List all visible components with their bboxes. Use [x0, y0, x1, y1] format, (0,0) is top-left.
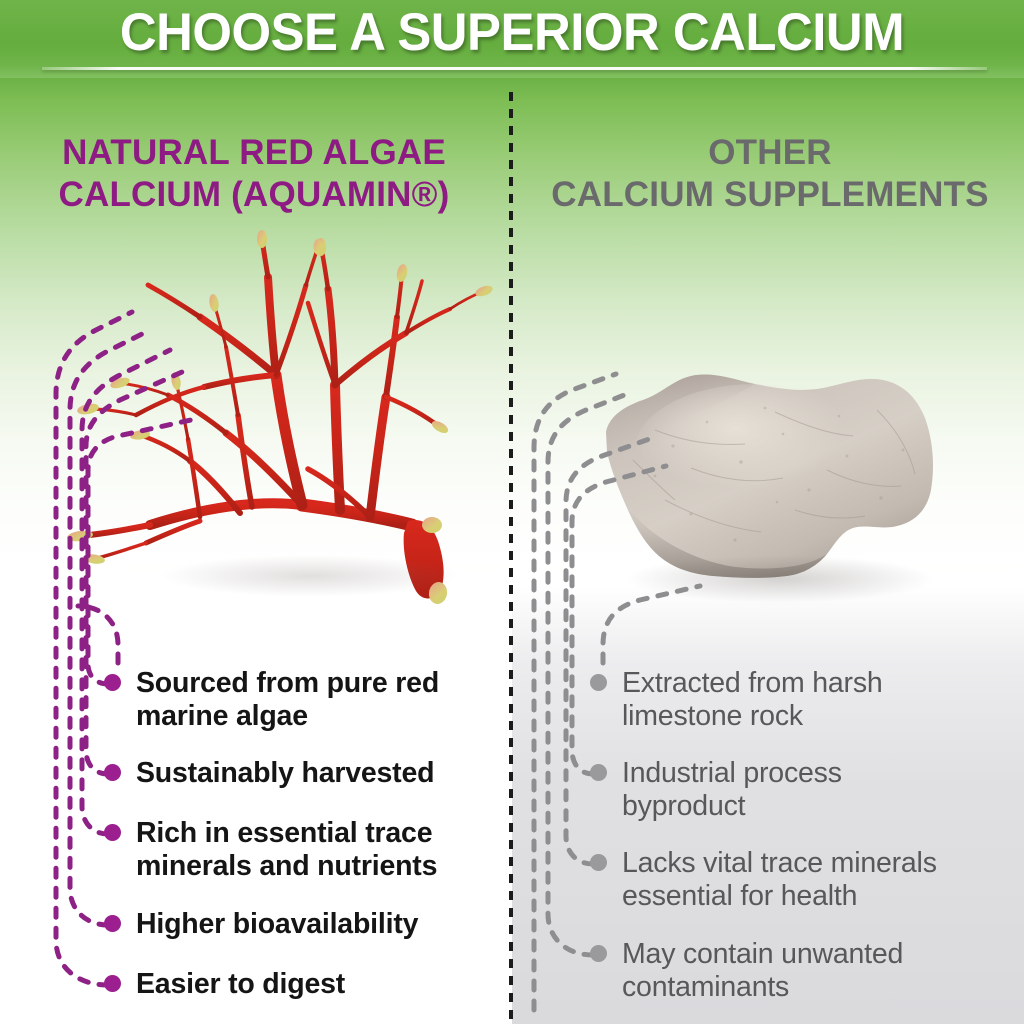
- list-item: Sourced from pure red marine algae: [104, 667, 504, 733]
- list-item: Lacks vital trace minerals essential for…: [590, 847, 1015, 913]
- list-item: Rich in essential trace minerals and nut…: [104, 817, 504, 883]
- list-item: Sustainably harvested: [104, 757, 504, 790]
- list-item: Higher bioavailability: [104, 908, 504, 941]
- list-item-label: Sustainably harvested: [136, 757, 434, 790]
- bullet-dot: [590, 764, 607, 781]
- list-item-label: Easier to digest: [136, 968, 345, 1001]
- bullet-dot: [104, 674, 121, 691]
- bullet-dot: [104, 975, 121, 992]
- center-dotted-divider: [509, 92, 513, 1022]
- rock-drop-shadow: [625, 555, 935, 603]
- list-item-label: Extracted from harsh limestone rock: [622, 667, 883, 733]
- page-title: CHOOSE A SUPERIOR CALCIUM: [20, 2, 1003, 63]
- bullet-dot: [104, 764, 121, 781]
- list-item: May contain unwanted contaminants: [590, 938, 1015, 1004]
- infographic-root: CHOOSE A SUPERIOR CALCIUM NATURAL RED AL…: [0, 0, 1024, 1024]
- red-algae-image: [40, 225, 500, 625]
- list-item: Extracted from harsh limestone rock: [590, 667, 1015, 733]
- list-item-label: Rich in essential trace minerals and nut…: [136, 817, 437, 883]
- list-item-label: May contain unwanted contaminants: [622, 938, 903, 1004]
- bullet-dot: [590, 674, 607, 691]
- algae-drop-shadow: [160, 555, 460, 597]
- list-item: Easier to digest: [104, 968, 504, 1001]
- list-item-label: Higher bioavailability: [136, 908, 418, 941]
- list-item: Industrial process byproduct: [590, 757, 1015, 823]
- title-underline-rule: [42, 67, 987, 70]
- list-item-label: Sourced from pure red marine algae: [136, 667, 439, 733]
- list-item-label: Lacks vital trace minerals essential for…: [622, 847, 937, 913]
- bullet-dot: [104, 915, 121, 932]
- list-item-label: Industrial process byproduct: [622, 757, 842, 823]
- right-column-heading: OTHER CALCIUM SUPPLEMENTS: [520, 132, 1020, 216]
- bullet-dot: [590, 854, 607, 871]
- limestone-rock-image: [595, 350, 955, 610]
- left-column-heading: NATURAL RED ALGAE CALCIUM (AQUAMIN®): [6, 132, 502, 216]
- bullet-dot: [590, 945, 607, 962]
- bullet-dot: [104, 824, 121, 841]
